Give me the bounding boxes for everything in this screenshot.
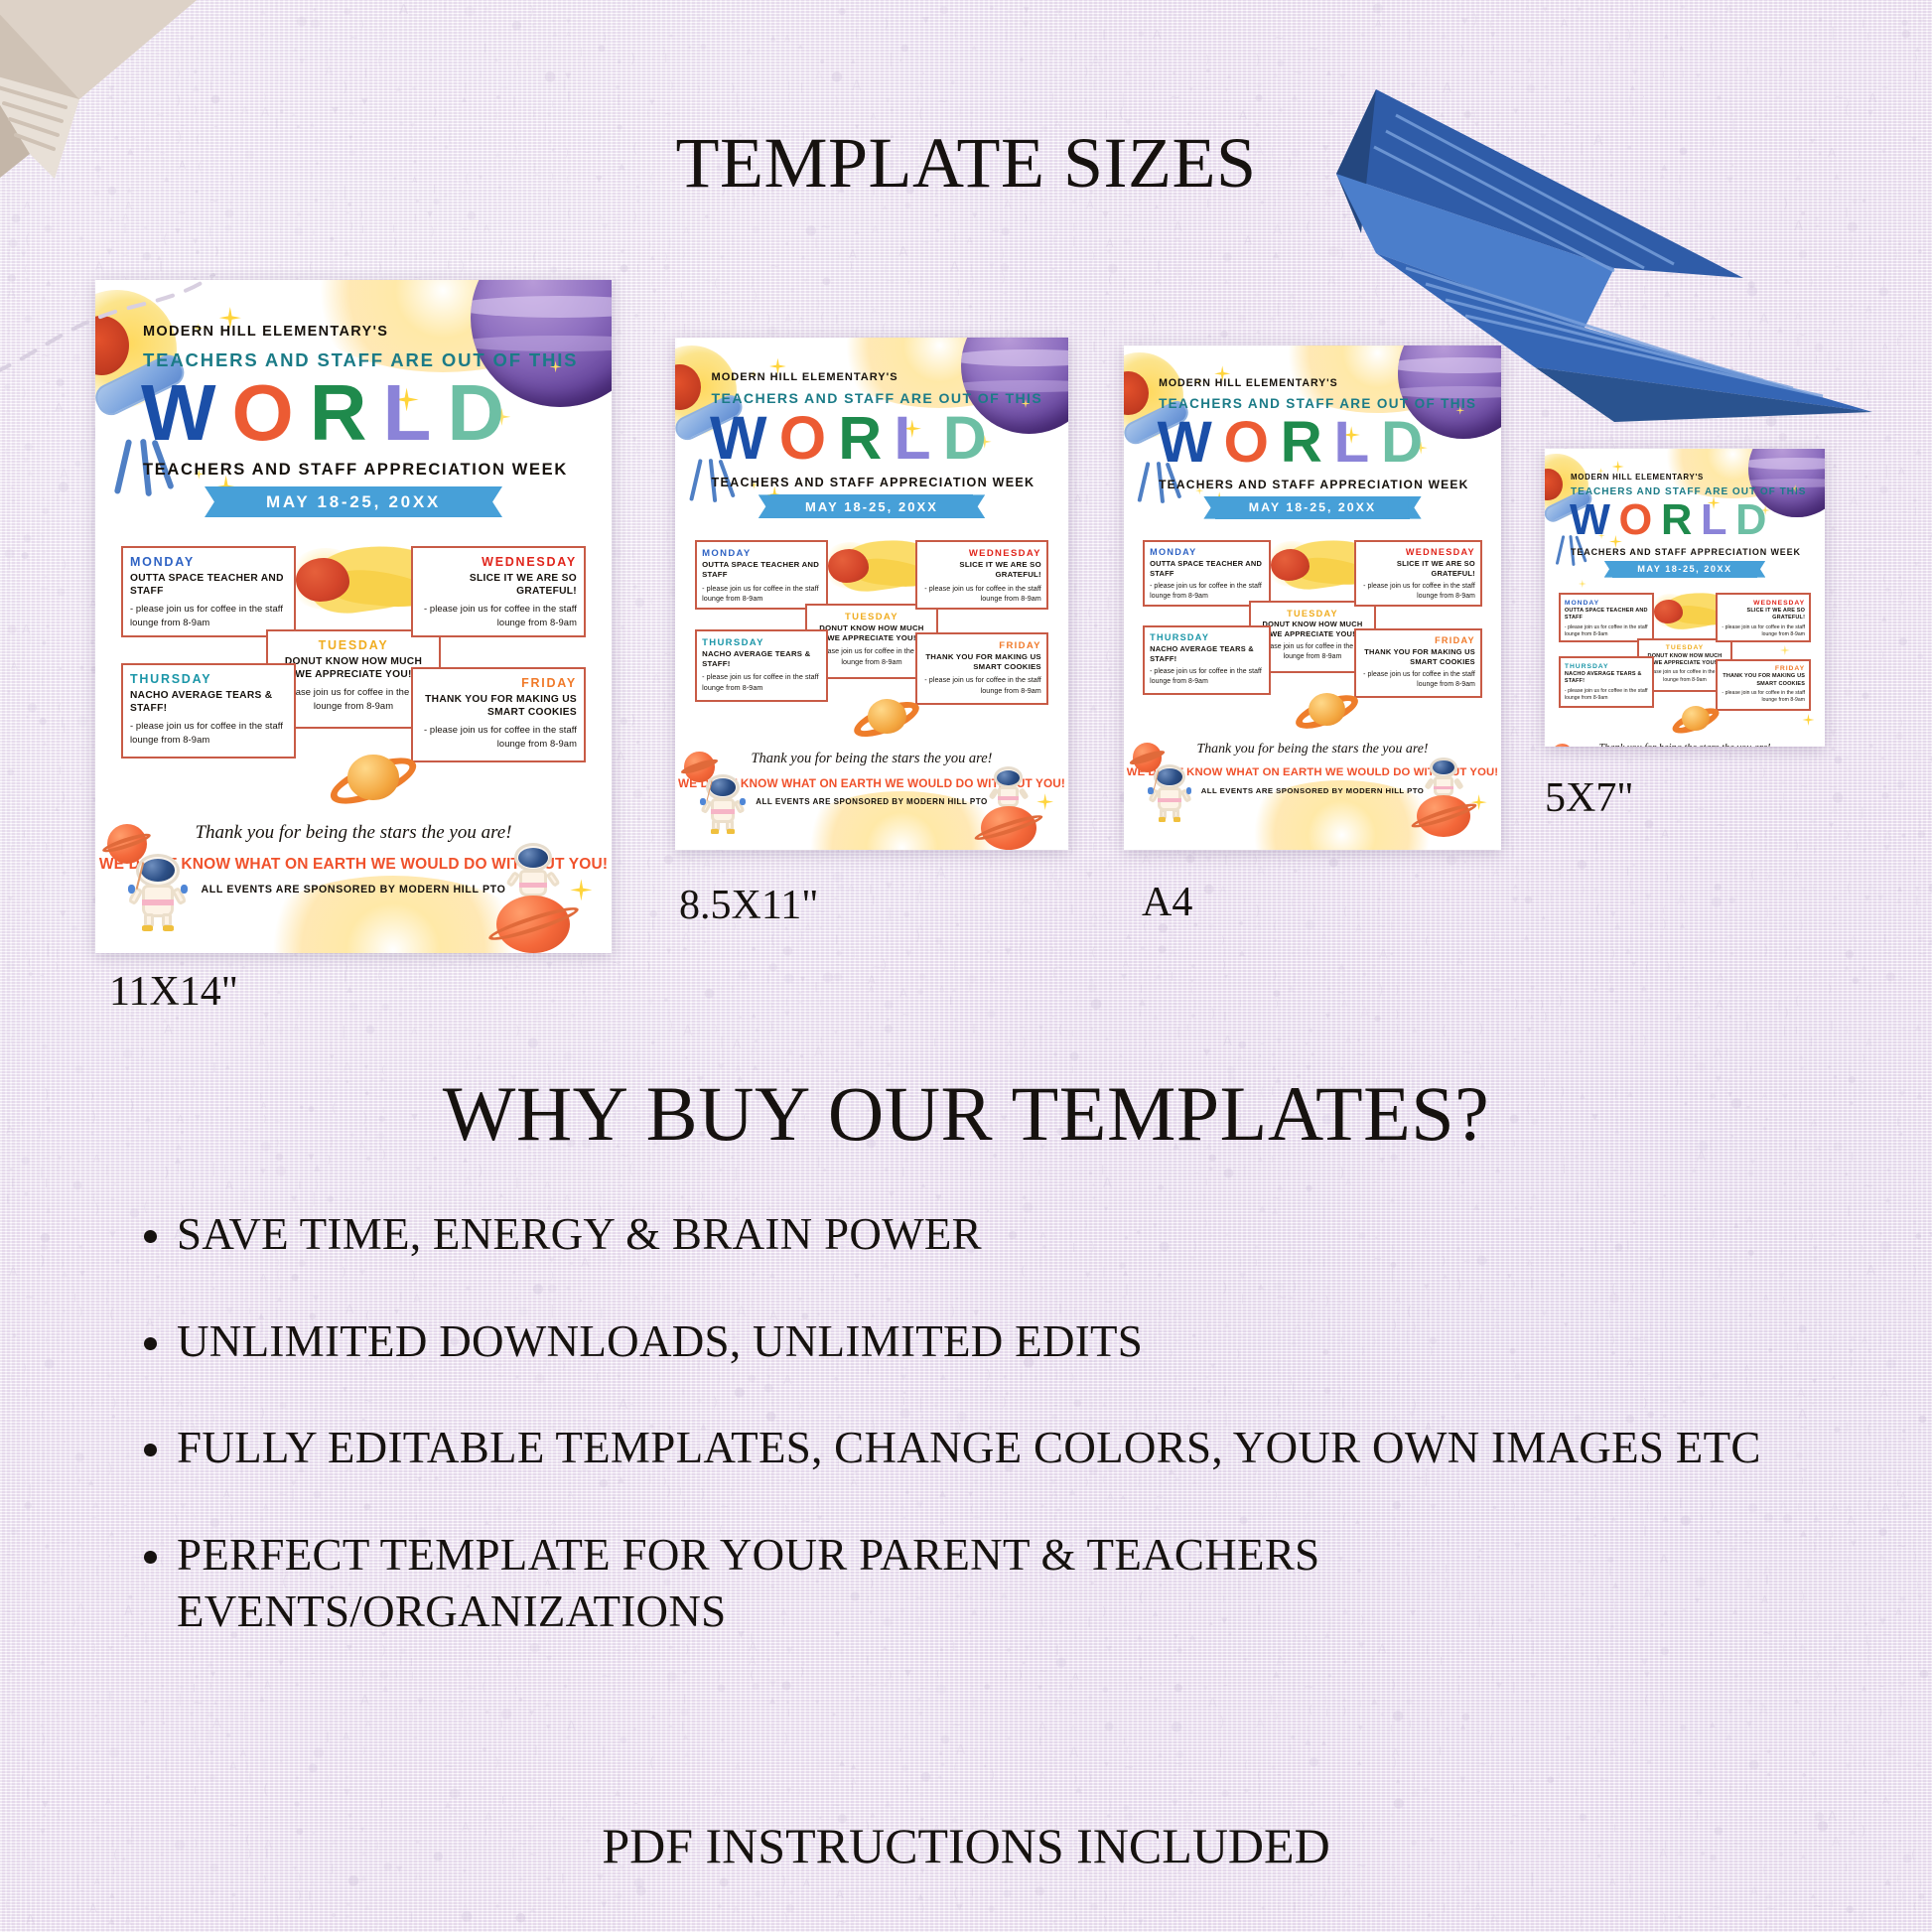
svg-text:l: l: [986, 20, 989, 31]
svg-text:A: A: [747, 48, 753, 57]
svg-text:-: -: [1659, 928, 1663, 942]
svg-text:~: ~: [615, 380, 623, 393]
svg-text:●: ●: [620, 262, 628, 274]
svg-text:•: •: [738, 1014, 743, 1024]
svg-text:-: -: [1090, 853, 1095, 869]
svg-text:A: A: [617, 750, 625, 763]
svg-text:▴: ▴: [1915, 444, 1922, 459]
svg-text:~: ~: [1103, 434, 1109, 443]
svg-text:A: A: [1510, 725, 1519, 739]
svg-text:·: ·: [1207, 284, 1211, 299]
svg-text:~: ~: [1256, 933, 1263, 943]
svg-text:▾: ▾: [972, 208, 978, 221]
svg-text:l: l: [63, 721, 67, 736]
svg-text:): ): [1594, 1152, 1597, 1161]
svg-text:-: -: [1575, 1152, 1579, 1163]
svg-text:): ): [915, 929, 920, 944]
svg-text:▴: ▴: [55, 804, 59, 813]
svg-text:~: ~: [991, 224, 1000, 237]
svg-text:●: ●: [1222, 249, 1232, 263]
svg-text:▾: ▾: [412, 3, 417, 14]
svg-text:●: ●: [275, 1163, 287, 1178]
svg-text:•: •: [494, 91, 502, 106]
svg-text:|: |: [1779, 19, 1783, 31]
svg-text:-: -: [1895, 78, 1899, 91]
svg-text:): ): [44, 841, 48, 854]
svg-text:∙: ∙: [1697, 1013, 1701, 1022]
svg-text:l: l: [500, 238, 502, 247]
svg-text:A: A: [1677, 893, 1687, 908]
svg-text:(: (: [377, 971, 381, 982]
flyer-preview-8x11[interactable]: MODERN HILL ELEMENTARY'STEACHERS AND STA…: [675, 338, 1068, 850]
day-title: THANK YOU FOR MAKING US SMART COOKIES: [1722, 673, 1805, 688]
pdf-instructions-note: PDF INSTRUCTIONS INCLUDED: [0, 1817, 1932, 1874]
svg-text:•: •: [687, 43, 693, 54]
svg-text:I: I: [1102, 28, 1106, 44]
svg-text:~: ~: [1526, 597, 1535, 609]
svg-text:●: ●: [1928, 881, 1932, 896]
flyer-day-box-wednesday: WEDNESDAYSLICE IT WE ARE SO GRATEFUL!- p…: [1716, 593, 1810, 642]
svg-text:I: I: [567, 90, 571, 105]
svg-text:●: ●: [838, 6, 846, 17]
svg-text:|: |: [1496, 1022, 1500, 1034]
svg-text:∙: ∙: [1506, 766, 1513, 780]
svg-text:l: l: [1915, 749, 1918, 763]
svg-text:l: l: [683, 323, 686, 336]
size-label-5x7: 5X7": [1545, 774, 1633, 822]
svg-text:▴: ▴: [1912, 354, 1918, 366]
astronaut-icon: [1149, 763, 1190, 820]
svg-text:): ): [377, 259, 382, 274]
svg-text:|: |: [1189, 70, 1192, 80]
svg-text:~: ~: [1274, 30, 1285, 45]
svg-text:-: -: [1831, 0, 1835, 14]
svg-text:|: |: [1176, 1025, 1180, 1038]
svg-text:▴: ▴: [462, 93, 468, 105]
svg-text:A: A: [1108, 317, 1115, 328]
svg-text:▾: ▾: [1005, 943, 1012, 959]
svg-text:•: •: [1795, 942, 1802, 955]
day-name: THURSDAY: [1565, 662, 1648, 671]
svg-text:l: l: [1007, 986, 1010, 997]
svg-text:l: l: [687, 867, 690, 878]
day-name: TUESDAY: [1256, 608, 1369, 621]
svg-text:|: |: [1426, 1011, 1429, 1022]
svg-text:|: |: [1038, 1034, 1042, 1047]
svg-text:l: l: [1883, 743, 1885, 753]
svg-text:•: •: [720, 865, 727, 879]
svg-text:|: |: [1103, 328, 1106, 338]
svg-text:(: (: [918, 107, 923, 122]
svg-text:·: ·: [651, 55, 654, 66]
svg-text:•: •: [986, 948, 991, 958]
svg-text:•: •: [1389, 950, 1394, 960]
flyer-day-box-wednesday: WEDNESDAYSLICE IT WE ARE SO GRATEFUL!- p…: [915, 540, 1048, 610]
svg-text:▾: ▾: [566, 16, 571, 27]
svg-text:·: ·: [1107, 405, 1110, 415]
svg-text:(: (: [1018, 941, 1023, 957]
svg-text:I: I: [1578, 55, 1581, 66]
svg-text:l: l: [973, 894, 975, 903]
svg-text:●: ●: [348, 999, 358, 1013]
svg-text:): ): [967, 1156, 970, 1165]
svg-text:): ): [939, 920, 942, 930]
svg-text:|: |: [1527, 688, 1531, 704]
svg-text:●: ●: [74, 1062, 83, 1075]
svg-text:|: |: [1055, 109, 1058, 118]
svg-text:●: ●: [1608, 985, 1614, 994]
svg-text:·: ·: [1864, 713, 1866, 722]
svg-text:▴: ▴: [646, 354, 650, 363]
svg-text:~: ~: [1744, 1010, 1751, 1020]
svg-text:(: (: [1071, 1029, 1074, 1037]
svg-text:): ): [646, 930, 651, 945]
svg-text:▾: ▾: [1189, 84, 1193, 93]
svg-text:A: A: [814, 1045, 823, 1060]
svg-text:▾: ▾: [547, 109, 552, 119]
svg-text:▴: ▴: [1897, 884, 1903, 895]
svg-text:A: A: [628, 3, 636, 15]
svg-text:∙: ∙: [1831, 891, 1840, 906]
svg-text:·: ·: [1084, 683, 1088, 697]
svg-text:-: -: [428, 1057, 433, 1073]
svg-text:A: A: [1717, 972, 1725, 985]
svg-text:A: A: [898, 244, 908, 260]
svg-text:): ): [1154, 59, 1157, 69]
svg-text:∙: ∙: [1883, 583, 1891, 598]
svg-text:l: l: [29, 633, 32, 647]
svg-text:▾: ▾: [347, 70, 352, 80]
svg-text:(: (: [613, 792, 616, 802]
svg-text:∙: ∙: [1916, 996, 1923, 1008]
svg-text:·: ·: [686, 964, 688, 973]
svg-text:|: |: [1305, 19, 1308, 29]
svg-text:·: ·: [25, 1026, 28, 1035]
svg-text:∙: ∙: [7, 789, 14, 801]
svg-text:A: A: [1055, 275, 1063, 287]
svg-text:▾: ▾: [332, 102, 339, 118]
svg-text:): ): [618, 972, 621, 983]
svg-text:∙: ∙: [25, 712, 30, 722]
svg-text:•: •: [649, 1035, 656, 1050]
svg-text:I: I: [584, 994, 588, 1010]
svg-text:·: ·: [1760, 893, 1763, 904]
svg-text:(: (: [954, 30, 957, 39]
svg-text:▴: ▴: [801, 252, 805, 261]
svg-text:): ): [43, 408, 46, 417]
svg-text:-: -: [1829, 700, 1832, 711]
svg-text:~: ~: [886, 274, 896, 288]
svg-text:l: l: [41, 676, 44, 689]
svg-text:): ): [662, 310, 666, 324]
svg-text:I: I: [1223, 310, 1227, 324]
svg-text:A: A: [1514, 818, 1520, 827]
svg-text:): ): [1210, 1007, 1215, 1022]
svg-text:▾: ▾: [1074, 611, 1078, 620]
svg-text:): ): [40, 532, 45, 546]
svg-text:(: (: [1595, 902, 1600, 916]
flyer-day-box-monday: MONDAYOUTTA SPACE TEACHER AND STAFF- ple…: [695, 540, 828, 610]
svg-text:▴: ▴: [953, 1015, 957, 1024]
svg-text:•: •: [1797, 973, 1803, 985]
svg-text:∙: ∙: [1864, 937, 1869, 947]
svg-text:l: l: [1725, 1047, 1728, 1059]
svg-text:I: I: [646, 709, 650, 725]
svg-text:•: •: [647, 792, 652, 802]
svg-text:∙: ∙: [921, 69, 925, 77]
svg-text:●: ●: [7, 767, 14, 777]
svg-text:l: l: [1274, 199, 1277, 209]
svg-text:●: ●: [752, 224, 760, 235]
svg-text:▴: ▴: [851, 57, 856, 67]
svg-text:~: ~: [617, 652, 625, 664]
svg-text:▾: ▾: [800, 974, 806, 985]
svg-text:∙: ∙: [1679, 0, 1687, 15]
svg-text:•: •: [933, 209, 940, 222]
svg-text:): ): [1851, 651, 1854, 660]
svg-text:|: |: [1069, 97, 1072, 107]
svg-text:): ): [1290, 44, 1293, 54]
svg-text:·: ·: [645, 367, 647, 376]
svg-text:-: -: [951, 206, 955, 219]
svg-text:I: I: [1912, 378, 1915, 391]
svg-text:•: •: [27, 968, 35, 983]
svg-text:·: ·: [109, 1025, 112, 1035]
svg-text:·: ·: [1225, 897, 1228, 906]
svg-text:·: ·: [1745, 827, 1749, 842]
svg-text:·: ·: [1897, 906, 1901, 921]
svg-text:): ): [1273, 969, 1277, 982]
svg-text:~: ~: [112, 1037, 119, 1047]
svg-text:I: I: [1186, 1023, 1188, 1033]
svg-text:▴: ▴: [1527, 54, 1533, 66]
svg-text:I: I: [515, 971, 518, 982]
svg-text:●: ●: [1158, 943, 1167, 955]
svg-text:): ): [1898, 615, 1901, 623]
svg-text:•: •: [415, 1164, 421, 1175]
svg-text:·: ·: [701, 313, 705, 327]
day-name: WEDNESDAY: [1361, 546, 1474, 559]
svg-text:I: I: [26, 922, 28, 932]
svg-text:∙: ∙: [974, 948, 981, 961]
svg-text:▾: ▾: [922, 12, 929, 28]
svg-text:-: -: [379, 240, 382, 249]
svg-text:●: ●: [663, 262, 670, 271]
day-name: FRIDAY: [420, 675, 577, 693]
svg-text:): ): [1507, 558, 1512, 572]
svg-text:∙: ∙: [619, 427, 625, 439]
svg-text:A: A: [1153, 27, 1162, 42]
svg-text:●: ●: [1524, 895, 1533, 905]
flyer-day-box-thursday: THURSDAYNACHO AVERAGE TEARS & STAFF!- pl…: [1143, 625, 1271, 695]
svg-text:▴: ▴: [71, 496, 76, 506]
svg-text:): ): [1793, 56, 1797, 69]
svg-text:•: •: [1728, 768, 1733, 778]
saturn-planet-icon: [328, 739, 419, 820]
svg-text:): ): [989, 934, 993, 945]
svg-text:|: |: [42, 934, 45, 943]
svg-text:~: ~: [1084, 1040, 1091, 1050]
svg-text:~: ~: [58, 572, 66, 583]
svg-text:~: ~: [650, 389, 657, 399]
svg-text:I: I: [1072, 221, 1075, 234]
svg-text:|: |: [1084, 741, 1087, 751]
svg-text:): ): [1917, 593, 1922, 608]
svg-text:~: ~: [612, 956, 621, 970]
svg-text:I: I: [1310, 985, 1312, 999]
svg-text:▾: ▾: [646, 782, 651, 792]
svg-text:∙: ∙: [1814, 32, 1818, 40]
svg-text:-: -: [1763, 780, 1767, 792]
flyer-word-letter: W: [1158, 412, 1215, 473]
svg-text:•: •: [733, 25, 740, 39]
svg-text:-: -: [414, 1011, 417, 1021]
svg-text:|: |: [495, 110, 497, 119]
svg-text:∙: ∙: [1237, 860, 1243, 870]
svg-text:-: -: [1050, 30, 1053, 39]
svg-text:): ): [1479, 989, 1483, 1000]
svg-text:●: ●: [836, 948, 842, 957]
svg-text:·: ·: [1863, 588, 1865, 598]
svg-text:): ): [1446, 957, 1449, 967]
svg-text:∙: ∙: [619, 460, 623, 470]
svg-text:A: A: [1360, 1006, 1370, 1022]
svg-text:•: •: [1258, 1051, 1262, 1060]
svg-text:|: |: [1928, 808, 1931, 818]
svg-text:~: ~: [1761, 43, 1770, 55]
svg-text:∙: ∙: [1895, 523, 1901, 534]
svg-text:l: l: [633, 969, 636, 982]
svg-text:l: l: [1614, 757, 1616, 765]
svg-text:|: |: [76, 691, 79, 700]
svg-text:~: ~: [1612, 1051, 1619, 1061]
svg-text:·: ·: [328, 1059, 331, 1071]
svg-text:|: |: [1511, 845, 1515, 858]
svg-text:•: •: [635, 812, 642, 826]
svg-text:A: A: [917, 81, 923, 91]
svg-text:•: •: [1172, 69, 1176, 79]
svg-text:·: ·: [1828, 763, 1832, 778]
svg-text:A: A: [1074, 493, 1082, 505]
svg-text:|: |: [1092, 842, 1095, 853]
svg-text:): ): [1828, 982, 1832, 995]
svg-text:·: ·: [1091, 546, 1094, 557]
svg-text:~: ~: [1863, 610, 1871, 621]
svg-text:~: ~: [1510, 832, 1518, 843]
svg-text:-: -: [564, 970, 567, 980]
svg-text:•: •: [1325, 982, 1332, 996]
svg-text:|: |: [1777, 999, 1781, 1012]
svg-text:▾: ▾: [1781, 777, 1786, 787]
svg-text:~: ~: [820, 219, 832, 235]
svg-text:~: ~: [1377, 919, 1386, 932]
svg-text:-: -: [1040, 306, 1043, 315]
svg-text:·: ·: [1608, 1009, 1612, 1024]
svg-text:~: ~: [43, 1154, 50, 1163]
svg-text:): ): [1665, 872, 1669, 884]
svg-text:▾: ▾: [1630, 39, 1636, 52]
svg-text:·: ·: [1202, 109, 1205, 119]
svg-text:): ): [1024, 212, 1028, 224]
svg-text:|: |: [1344, 1157, 1346, 1165]
svg-text:·: ·: [1106, 516, 1110, 532]
svg-text:▾: ▾: [1631, 958, 1637, 970]
svg-text:): ): [1631, 18, 1635, 29]
svg-text:·: ·: [445, 996, 449, 1010]
svg-text:I: I: [1915, 895, 1919, 909]
svg-text:): ): [94, 982, 99, 997]
svg-text:|: |: [1581, 958, 1585, 973]
svg-text:A: A: [603, 987, 610, 998]
svg-text:∙: ∙: [1879, 753, 1886, 764]
svg-text:): ): [600, 1049, 603, 1059]
sparkle-icon: [1780, 645, 1790, 655]
svg-text:(: (: [1544, 923, 1548, 933]
svg-text:): ): [834, 93, 839, 108]
svg-text:●: ●: [939, 3, 948, 16]
svg-text:I: I: [1007, 972, 1011, 987]
svg-text:I: I: [949, 995, 952, 1008]
day-title: THANK YOU FOR MAKING US SMART COOKIES: [1361, 647, 1474, 667]
svg-text:): ): [668, 1019, 673, 1034]
svg-text:▾: ▾: [1224, 972, 1228, 981]
day-detail: - please join us for coffee in the staff…: [1565, 688, 1648, 703]
svg-text:-: -: [921, 248, 925, 259]
svg-text:): ): [1088, 1012, 1092, 1022]
svg-text:l: l: [77, 868, 80, 880]
svg-text:-: -: [1084, 558, 1089, 573]
svg-text:-: -: [833, 285, 837, 297]
svg-text:(: (: [615, 674, 618, 683]
svg-text:): ): [343, 79, 347, 95]
svg-text:(: (: [1425, 934, 1429, 947]
svg-text:~: ~: [835, 960, 842, 969]
svg-text:∙: ∙: [1512, 1035, 1518, 1045]
svg-text:A: A: [1898, 467, 1905, 478]
svg-text:): ): [1311, 901, 1316, 916]
svg-text:l: l: [838, 251, 841, 262]
svg-text:): ): [529, 4, 534, 19]
svg-text:-: -: [1508, 972, 1511, 981]
svg-text:A: A: [1255, 921, 1262, 932]
size-label-8x11: 8.5X11": [679, 882, 818, 929]
svg-text:~: ~: [1709, 947, 1717, 958]
svg-text:~: ~: [855, 3, 861, 12]
svg-text:·: ·: [359, 1047, 363, 1063]
size-label-a4: A4: [1142, 879, 1192, 926]
svg-text:●: ●: [1203, 882, 1214, 897]
svg-text:●: ●: [1238, 1039, 1247, 1050]
svg-text:(: (: [42, 882, 46, 893]
svg-text:|: |: [40, 1166, 44, 1178]
svg-text:~: ~: [1293, 65, 1304, 79]
svg-text:l: l: [1610, 1152, 1613, 1165]
svg-text:): ): [513, 69, 516, 78]
svg-text:•: •: [1058, 84, 1064, 95]
svg-text:l: l: [631, 549, 634, 561]
svg-text:∙: ∙: [1899, 828, 1908, 844]
svg-text:-: -: [751, 101, 756, 117]
day-title: DONUT KNOW HOW MUCH WE APPRECIATE YOU!: [275, 655, 432, 682]
svg-text:·: ·: [951, 1053, 953, 1062]
svg-text:I: I: [1254, 1061, 1256, 1070]
day-name: WEDNESDAY: [1722, 599, 1805, 608]
flyer-thanks-line: Thank you for being the stars the you ar…: [95, 822, 612, 844]
svg-text:|: |: [634, 519, 638, 532]
svg-text:·: ·: [1851, 724, 1855, 738]
svg-text:-: -: [5, 1028, 8, 1036]
svg-text:): ): [1582, 886, 1585, 896]
